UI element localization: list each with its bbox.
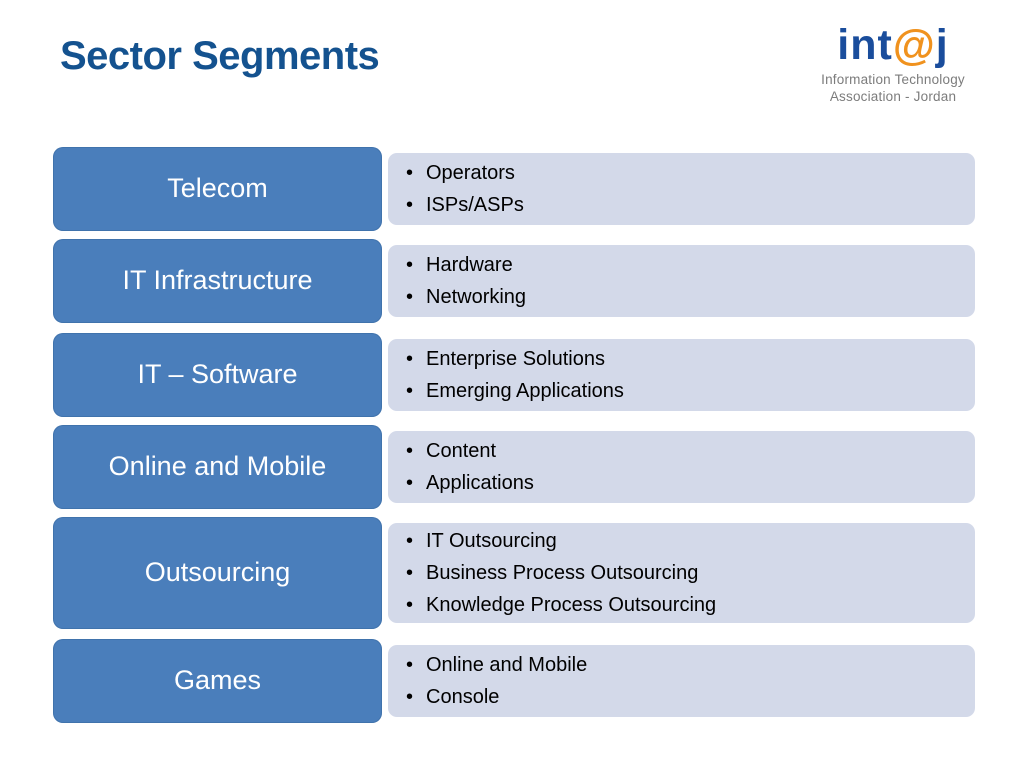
list-item-label: ISPs/ASPs bbox=[426, 195, 524, 215]
segment-row: Online and Mobile•Content•Applications bbox=[53, 425, 975, 509]
list-item-label: Enterprise Solutions bbox=[426, 349, 605, 369]
bullet-icon: • bbox=[406, 349, 426, 369]
list-item-label: Knowledge Process Outsourcing bbox=[426, 595, 716, 615]
segment-row: Telecom•Operators•ISPs/ASPs bbox=[53, 147, 975, 231]
segment-label-text: Online and Mobile bbox=[103, 452, 333, 482]
segment-items-panel: •IT Outsourcing•Business Process Outsour… bbox=[388, 523, 975, 623]
list-item-label: Content bbox=[426, 441, 496, 461]
segment-row: IT Infrastructure•Hardware•Networking bbox=[53, 239, 975, 323]
segment-row: IT – Software•Enterprise Solutions•Emerg… bbox=[53, 333, 975, 417]
segment-label-text: Games bbox=[168, 666, 267, 696]
list-item: •Knowledge Process Outsourcing bbox=[406, 589, 975, 621]
bullet-icon: • bbox=[406, 255, 426, 275]
segment-label-text: IT Infrastructure bbox=[116, 266, 318, 296]
list-item: •Enterprise Solutions bbox=[406, 343, 975, 375]
bullet-icon: • bbox=[406, 441, 426, 461]
segment-items-panel: •Hardware•Networking bbox=[388, 245, 975, 317]
list-item: •Emerging Applications bbox=[406, 375, 975, 407]
list-item: •Operators bbox=[406, 157, 975, 189]
list-item-label: Online and Mobile bbox=[426, 655, 587, 675]
segment-items-panel: •Enterprise Solutions•Emerging Applicati… bbox=[388, 339, 975, 411]
bullet-icon: • bbox=[406, 531, 426, 551]
list-item: •Content bbox=[406, 435, 975, 467]
segment-items-panel: •Content•Applications bbox=[388, 431, 975, 503]
list-item: •IT Outsourcing bbox=[406, 525, 975, 557]
segment-label-box[interactable]: Games bbox=[53, 639, 382, 723]
list-item: •ISPs/ASPs bbox=[406, 189, 975, 221]
segment-label-text: IT – Software bbox=[131, 360, 303, 390]
segment-label-text: Telecom bbox=[161, 174, 274, 204]
bullet-icon: • bbox=[406, 287, 426, 307]
segment-label-box[interactable]: IT Infrastructure bbox=[53, 239, 382, 323]
segment-label-box[interactable]: Outsourcing bbox=[53, 517, 382, 629]
segment-label-box[interactable]: Online and Mobile bbox=[53, 425, 382, 509]
segment-label-box[interactable]: Telecom bbox=[53, 147, 382, 231]
bullet-icon: • bbox=[406, 473, 426, 493]
list-item-label: Operators bbox=[426, 163, 515, 183]
segment-row: Outsourcing•IT Outsourcing•Business Proc… bbox=[53, 517, 975, 629]
bullet-icon: • bbox=[406, 563, 426, 583]
list-item: •Online and Mobile bbox=[406, 649, 975, 681]
segment-label-text: Outsourcing bbox=[139, 558, 297, 588]
list-item-label: Applications bbox=[426, 473, 534, 493]
list-item-label: Console bbox=[426, 687, 499, 707]
list-item-label: Networking bbox=[426, 287, 526, 307]
bullet-icon: • bbox=[406, 163, 426, 183]
segment-items-panel: •Online and Mobile•Console bbox=[388, 645, 975, 717]
list-item-label: Business Process Outsourcing bbox=[426, 563, 698, 583]
bullet-icon: • bbox=[406, 687, 426, 707]
segment-items-panel: •Operators•ISPs/ASPs bbox=[388, 153, 975, 225]
list-item: •Console bbox=[406, 681, 975, 713]
sector-segments-matrix: Telecom•Operators•ISPs/ASPsIT Infrastruc… bbox=[0, 0, 1024, 768]
list-item: •Applications bbox=[406, 467, 975, 499]
bullet-icon: • bbox=[406, 595, 426, 615]
list-item: •Networking bbox=[406, 281, 975, 313]
list-item-label: Hardware bbox=[426, 255, 513, 275]
bullet-icon: • bbox=[406, 381, 426, 401]
list-item: •Hardware bbox=[406, 249, 975, 281]
list-item-label: IT Outsourcing bbox=[426, 531, 557, 551]
list-item: •Business Process Outsourcing bbox=[406, 557, 975, 589]
bullet-icon: • bbox=[406, 195, 426, 215]
segment-label-box[interactable]: IT – Software bbox=[53, 333, 382, 417]
segment-row: Games•Online and Mobile•Console bbox=[53, 639, 975, 723]
list-item-label: Emerging Applications bbox=[426, 381, 624, 401]
bullet-icon: • bbox=[406, 655, 426, 675]
